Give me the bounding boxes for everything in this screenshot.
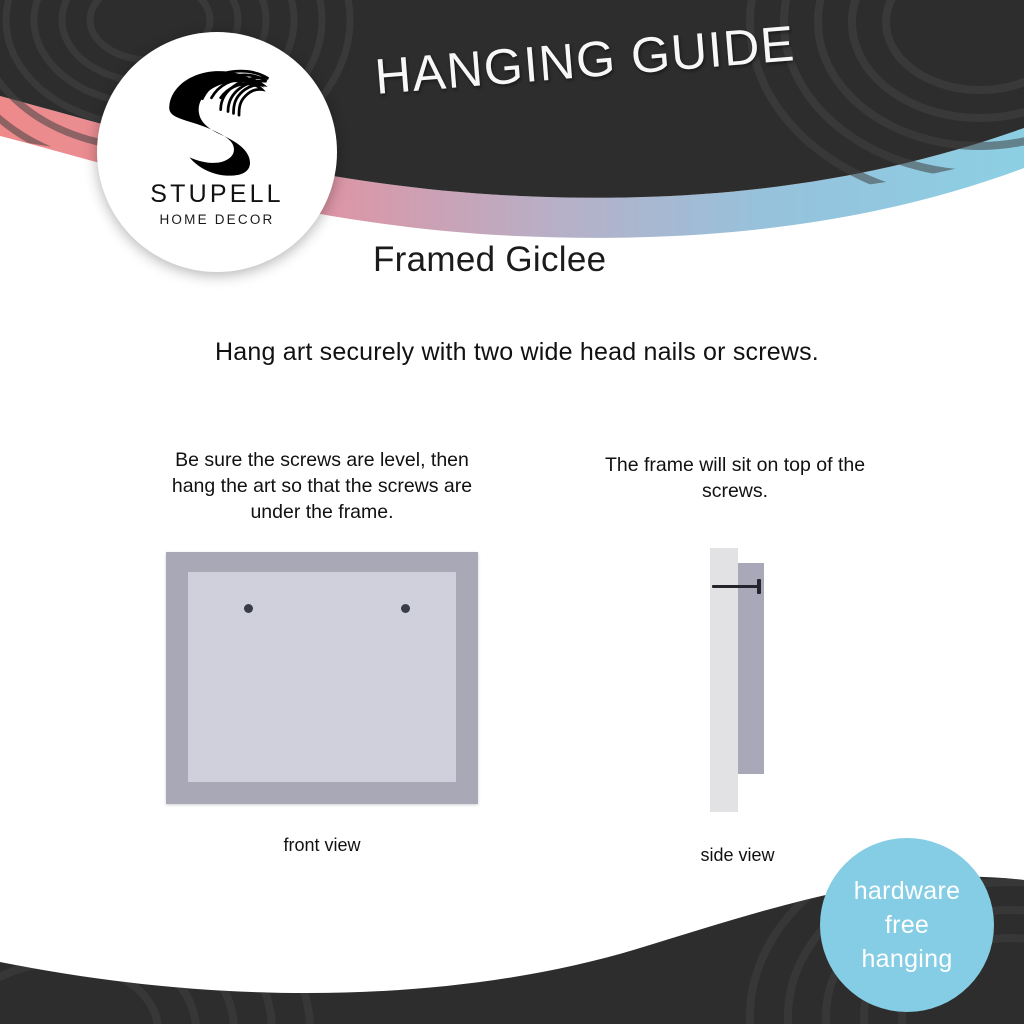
badge-line-2: free [885,908,929,942]
nail-shaft-icon [712,585,760,588]
intro-instruction: Hang art securely with two wide head nai… [0,338,1024,367]
frame-inner-panel [188,572,456,782]
hanging-guide-page: STUPELL HOME DECOR HANGING GUIDE Framed … [0,0,1024,1024]
side-view-label: side view [640,845,835,866]
stupell-swan-logo [162,58,272,176]
nail-head-icon [757,579,761,594]
front-view-caption: Be sure the screws are level, then hang … [160,447,484,525]
side-view-caption: The frame will sit on top of the screws. [600,452,870,504]
hardware-free-hanging-badge: hardware free hanging [820,838,994,1012]
badge-line-3: hanging [861,942,952,976]
front-view-label: front view [160,835,484,856]
product-type-label: Framed Giclee [373,240,606,280]
frame-outer-border [166,552,478,804]
badge-line-1: hardware [854,874,961,908]
screw-dot-right [401,604,410,613]
front-view-diagram [166,552,478,804]
side-view-diagram [700,546,778,814]
page-title: HANGING GUIDE [373,14,797,106]
stupell-logo-badge: STUPELL HOME DECOR [97,32,337,272]
logo-tagline: HOME DECOR [159,212,274,227]
frame-side-strip [738,563,764,774]
logo-wordmark: STUPELL [150,180,284,209]
screw-dot-left [244,604,253,613]
